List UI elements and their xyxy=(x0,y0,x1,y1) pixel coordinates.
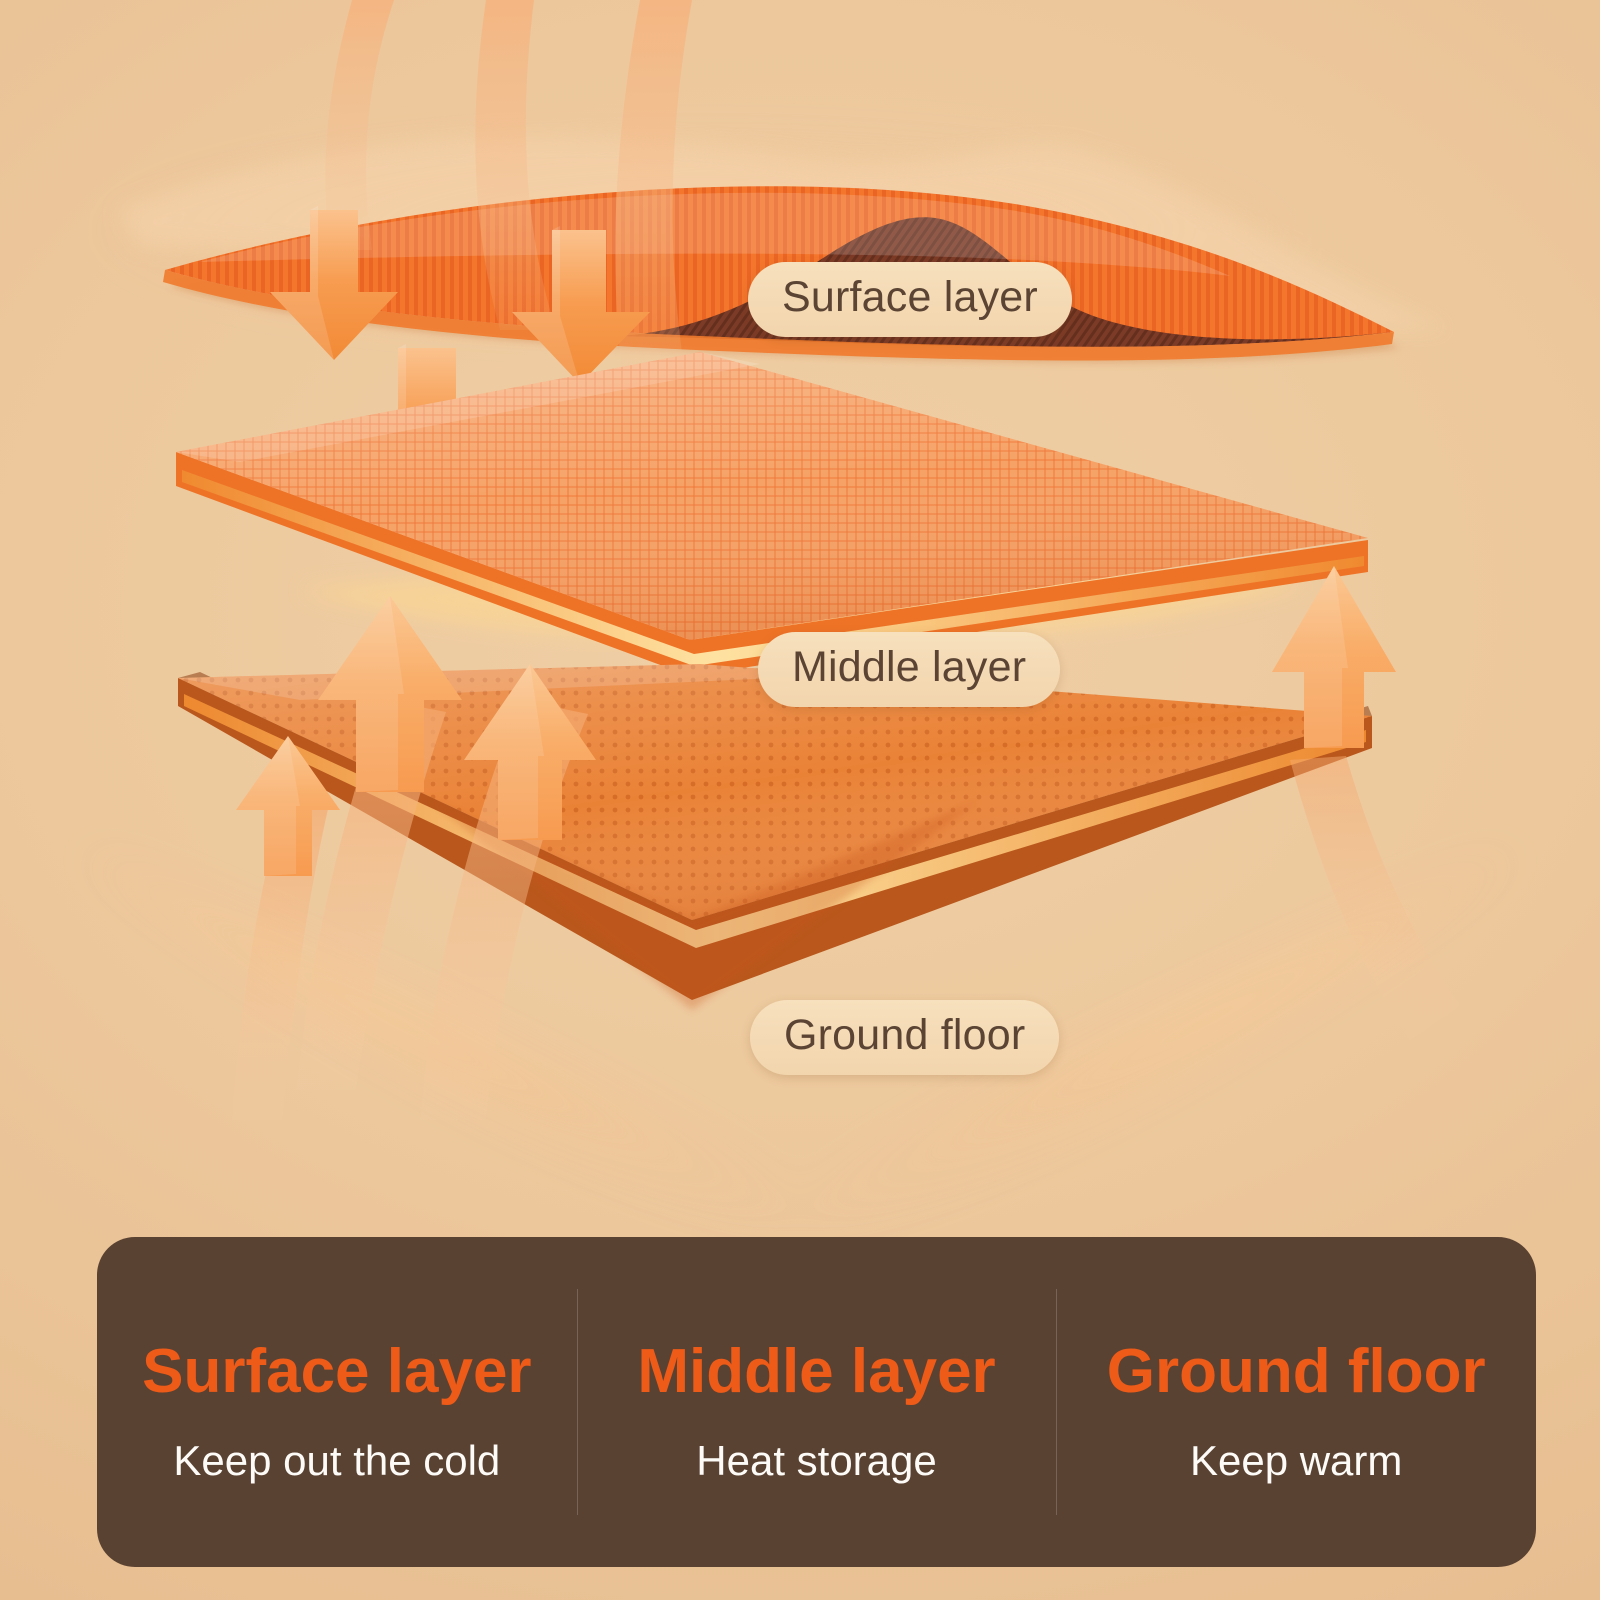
summary-subtitle: Heat storage xyxy=(696,1439,936,1483)
summary-card: Surface layer Keep out the cold Middle l… xyxy=(97,1237,1536,1567)
summary-title: Middle layer xyxy=(637,1339,995,1404)
infographic-root: Surface layer Middle layer Ground floor … xyxy=(0,0,1600,1600)
middle-layer-slab xyxy=(176,352,1368,676)
label-pill-middle-layer: Middle layer xyxy=(758,632,1060,707)
summary-title: Surface layer xyxy=(142,1339,531,1404)
summary-column-surface-layer: Surface layer Keep out the cold xyxy=(97,1237,577,1567)
label-pill-surface-layer: Surface layer xyxy=(748,262,1072,337)
summary-subtitle: Keep warm xyxy=(1190,1439,1402,1483)
summary-column-middle-layer: Middle layer Heat storage xyxy=(577,1237,1057,1567)
summary-title: Ground floor xyxy=(1107,1339,1486,1404)
summary-subtitle: Keep out the cold xyxy=(173,1439,500,1483)
summary-column-ground-floor: Ground floor Keep warm xyxy=(1056,1237,1536,1567)
label-pill-ground-floor: Ground floor xyxy=(750,1000,1059,1075)
